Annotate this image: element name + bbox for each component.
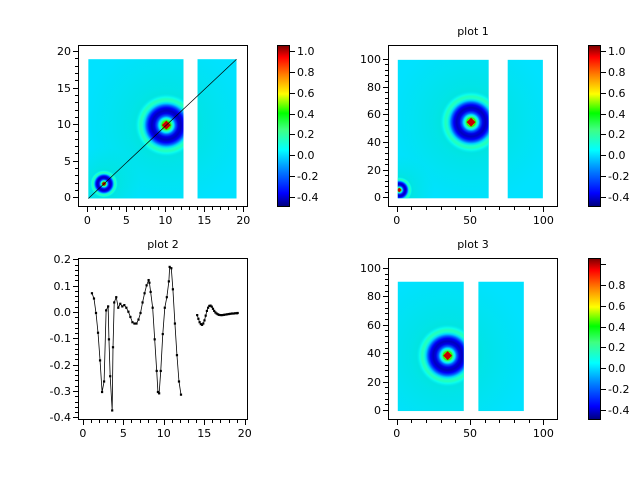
plot3-yticklabel: 80 (333, 291, 381, 302)
plot3-ytick (383, 382, 388, 383)
plot3-ytick-minor (385, 291, 388, 292)
plot3-colorbar (588, 258, 601, 420)
plot3-xtick-minor (441, 420, 442, 423)
plot3-cbar-tick (601, 410, 606, 411)
plot3-ytick (383, 296, 388, 297)
plot3-xtick (470, 420, 471, 425)
plot3-ytick-minor (385, 302, 388, 303)
plot3-ytick (383, 325, 388, 326)
plot3-ytick (383, 353, 388, 354)
plot3-image-layer (389, 259, 558, 420)
plot3-yticklabel: 100 (333, 263, 381, 274)
plot3-yticklabel: 20 (333, 377, 381, 388)
plot3-ytick-minor (385, 336, 388, 337)
plot3-ytick (383, 268, 388, 269)
plot3-ytick-minor (385, 313, 388, 314)
plot3-ytick-minor (385, 279, 388, 280)
plot3-xtick-minor (426, 420, 427, 423)
plot3-ytick-minor (385, 365, 388, 366)
plot3-cbar-tick (601, 327, 606, 328)
plot3-cbar-tick (601, 306, 606, 307)
plot3-ytick-minor (385, 285, 388, 286)
plot3-ytick-minor (385, 399, 388, 400)
plot3-xtick-minor (411, 420, 412, 423)
plot3-cbar-tick (601, 285, 606, 286)
plot3-ytick-minor (385, 348, 388, 349)
plot3-ytick-minor (385, 376, 388, 377)
plot3-cbar-ticklabel: 0.6 (608, 301, 626, 312)
plot3-cbar-ticklabel: -0.4 (608, 405, 629, 416)
plot3-title: plot 3 (388, 239, 558, 251)
plot3-cbar-tick (601, 368, 606, 369)
plot3-ytick-minor (385, 387, 388, 388)
plot3-ytick-minor (385, 342, 388, 343)
plot3-xticklabel: 0 (372, 428, 422, 439)
plot3-xtick-minor (514, 420, 515, 423)
plot3-xtick-minor (455, 420, 456, 423)
plot3-axes-frame (388, 258, 558, 420)
plot3-ytick-minor (385, 308, 388, 309)
plot3-xticklabel: 100 (518, 428, 568, 439)
plot3-colorbar-gradient (589, 259, 600, 419)
plot3-xtick-minor (485, 420, 486, 423)
plot3-ytick-minor (385, 319, 388, 320)
plot3-ytick-minor (385, 393, 388, 394)
plot3-ytick-minor (385, 404, 388, 405)
plot3-ytick-minor (385, 370, 388, 371)
plot3-xtick-minor (529, 420, 530, 423)
plot3-ytick-minor (385, 330, 388, 331)
plot3-ytick-minor (385, 274, 388, 275)
plot3-cbar-ticklabel: 0.0 (608, 363, 626, 374)
plot3-cbar-tick (601, 347, 606, 348)
plot3-ytick (383, 410, 388, 411)
plot3-xtick (543, 420, 544, 425)
plot3-cbar-ticklabel: 0.8 (608, 280, 626, 291)
plot3-yticklabel: 60 (333, 320, 381, 331)
plot3-yticklabel: 40 (333, 348, 381, 359)
plot3-ytick-minor (385, 359, 388, 360)
plot3-cbar-tick (601, 389, 606, 390)
plot3-xticklabel: 50 (445, 428, 495, 439)
plot3-xtick-minor (499, 420, 500, 423)
panel-plot3: plot 30204060801000501000.80.60.40.20.0-… (0, 0, 640, 480)
plot3-xtick (397, 420, 398, 425)
plot3-cbar-ticklabel: 0.4 (608, 322, 626, 333)
plot3-cbar-tick-top (601, 264, 606, 265)
plot3-yticklabel: 0 (333, 405, 381, 416)
plot3-cbar-ticklabel: -0.2 (608, 384, 629, 395)
plot3-cbar-ticklabel: 0.2 (608, 342, 626, 353)
figure-canvas: 05101520051015201.00.80.60.40.20.0-0.2-0… (0, 0, 640, 480)
